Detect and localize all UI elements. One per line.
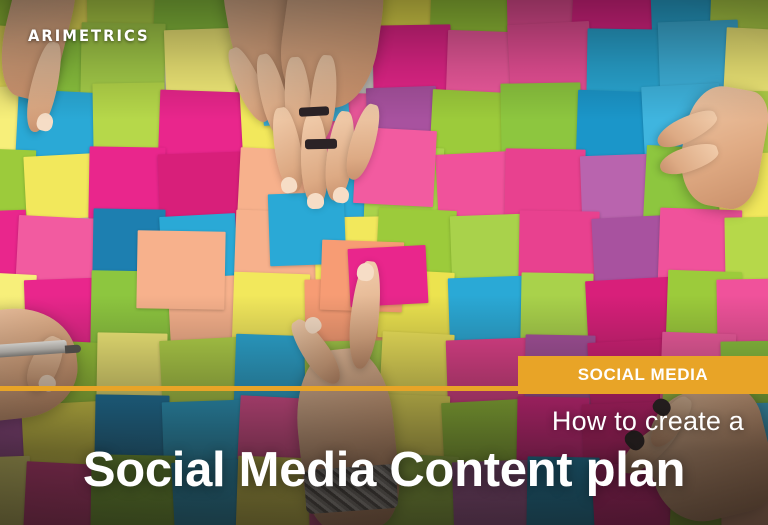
page-title: Social Media Content plan — [0, 442, 768, 498]
category-badge: SOCIAL MEDIA — [518, 356, 768, 394]
cover-image: ARIMETRICS SOCIAL MEDIA How to create a … — [0, 0, 768, 525]
sticky-note — [580, 154, 652, 220]
arimetrics-logo[interactable]: ARIMETRICS — [28, 26, 150, 45]
sticky-note — [592, 215, 667, 285]
ring-band — [299, 106, 329, 117]
sticky-note — [450, 214, 526, 285]
sticky-note — [373, 24, 452, 95]
accent-rule — [0, 386, 519, 391]
kicker-text: How to create a — [44, 406, 744, 437]
sticky-note — [521, 272, 594, 339]
sticky-note — [501, 82, 582, 157]
sticky-note — [576, 90, 650, 158]
sticky-note — [93, 82, 166, 151]
pen-tip — [65, 344, 82, 353]
fingernail — [307, 193, 325, 210]
ring-band — [305, 139, 337, 150]
sticky-note — [24, 153, 97, 221]
sticky-note — [137, 230, 226, 310]
category-label: SOCIAL MEDIA — [578, 365, 709, 385]
